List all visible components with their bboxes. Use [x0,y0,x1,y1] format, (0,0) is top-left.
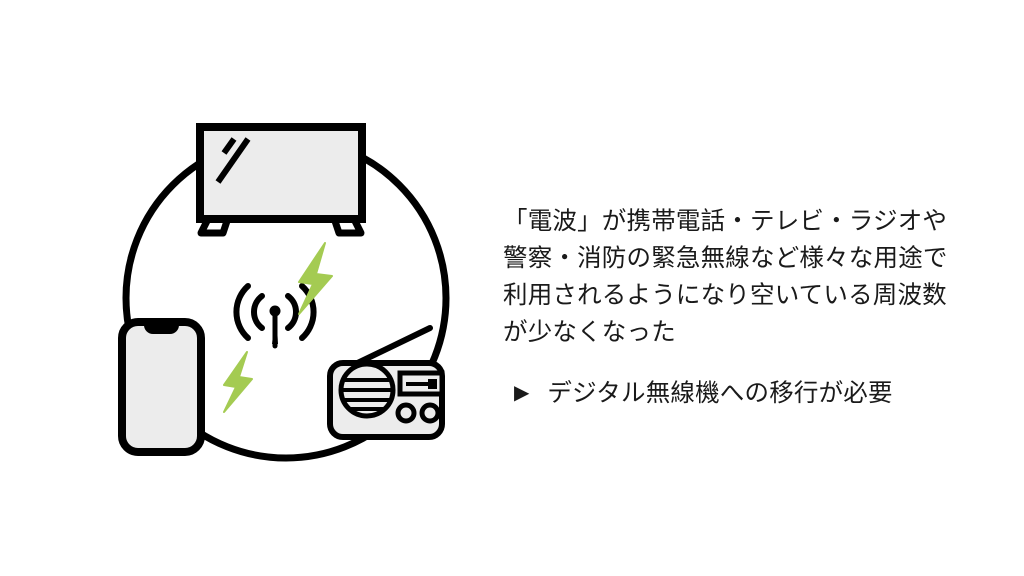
lightning-bolt-lower-icon [224,352,252,412]
slide-canvas: 「電波」が携帯電話・テレビ・ラジオや 警察・消防の緊急無線など様々な用途で 利用… [0,0,1024,576]
radio-icon [330,328,442,437]
smartphone-icon [122,322,201,452]
triangle-right-icon: ▶ [514,383,529,403]
conclusion-bullet-text: デジタル無線機への移行が必要 [547,377,892,411]
text-block: 「電波」が携帯電話・テレビ・ラジオや 警察・消防の緊急無線など様々な用途で 利用… [503,203,973,411]
body-paragraph: 「電波」が携帯電話・テレビ・ラジオや 警察・消防の緊急無線など様々な用途で 利用… [503,203,973,351]
antenna-signal-icon [236,286,313,346]
illustration-radio-spectrum [100,100,470,470]
television-icon [200,127,362,233]
conclusion-bullet: ▶ デジタル無線機への移行が必要 [503,377,973,411]
